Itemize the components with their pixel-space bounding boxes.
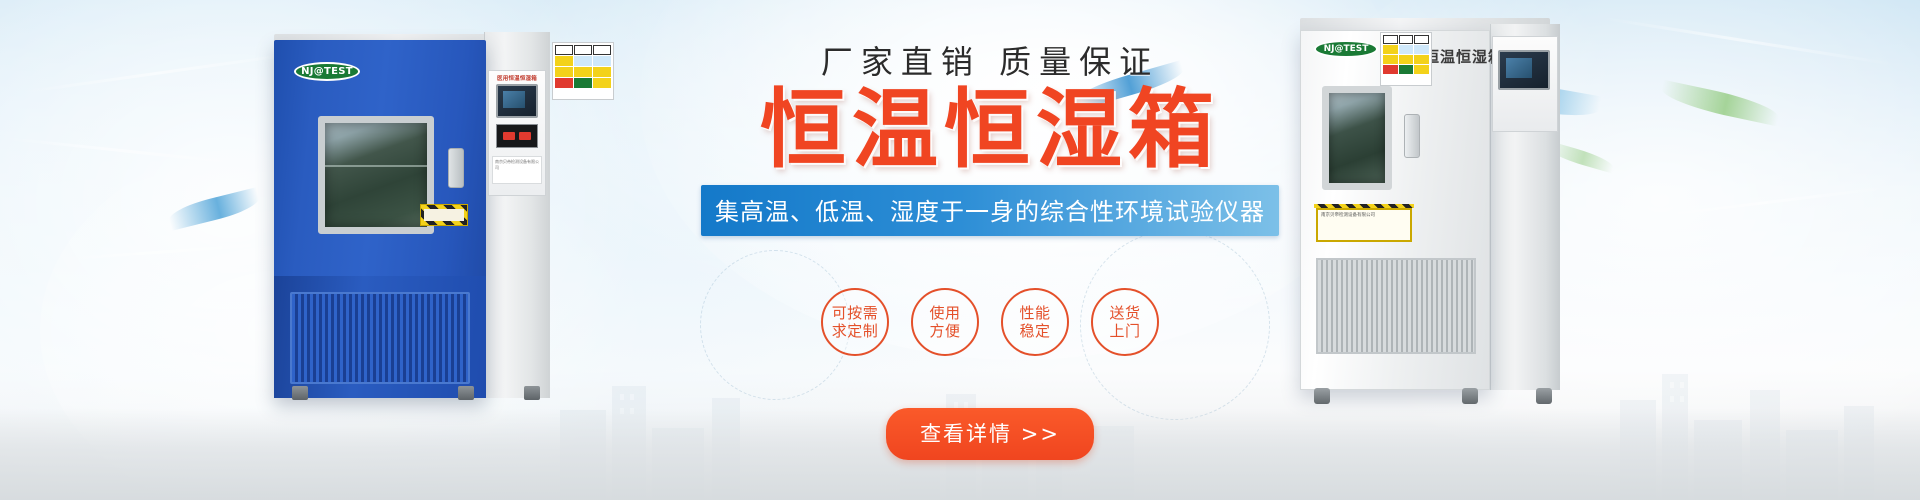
product-image-left-chamber: NJ@TEST 医用恒温恒湿箱 南京贝帝检测设备有限公司 <box>252 28 552 398</box>
caster-wheel <box>1314 388 1330 404</box>
feature-badge-delivery[interactable]: 送货 上门 <box>1091 288 1159 356</box>
chamber-door-handle <box>448 148 464 188</box>
warning-sticker-grid <box>1380 32 1432 86</box>
light-streak-decoration <box>60 242 280 260</box>
hazard-stripe-label <box>420 204 468 226</box>
feature-badge-line1: 使用 <box>929 304 960 322</box>
banner-subtitle: 集高温、低温、湿度于一身的综合性环境试验仪器 <box>701 185 1279 236</box>
control-panel-title: 医用恒温恒湿箱 <box>491 74 543 82</box>
controller-display-screen <box>496 84 538 118</box>
product-image-right-chamber: NJ@TEST 恒温恒湿箱 南京贝帝检测设备有限公司 <box>1270 10 1610 400</box>
manufacturer-label: 南京贝帝检测设备有限公司 <box>1316 208 1412 242</box>
feature-badge-list: 可按需 求定制 使用 方便 性能 稳定 送货 上门 <box>690 288 1290 356</box>
chamber-viewing-window <box>1322 86 1392 190</box>
feature-badge-line1: 性能 <box>1019 304 1050 322</box>
feature-badge-line2: 上门 <box>1109 322 1140 340</box>
caster-wheel <box>292 386 308 400</box>
caster-wheel <box>524 386 540 400</box>
feature-badge-stable[interactable]: 性能 稳定 <box>1001 288 1069 356</box>
light-streak-decoration <box>1 136 260 166</box>
feature-badge-line2: 稳定 <box>1019 322 1050 340</box>
banner-tagline: 厂家直销 质量保证 <box>690 46 1290 78</box>
banner-headline: 恒温恒湿箱 <box>690 86 1290 175</box>
feature-badge-easy-use[interactable]: 使用 方便 <box>911 288 979 356</box>
manufacturer-label: 南京贝帝检测设备有限公司 <box>492 156 542 184</box>
caster-wheel <box>1462 388 1478 404</box>
caster-wheel <box>1536 388 1552 404</box>
feature-badge-custom[interactable]: 可按需 求定制 <box>821 288 889 356</box>
warning-sticker-grid <box>552 42 614 100</box>
banner-copy-block: 厂家直销 质量保证 恒温恒湿箱 集高温、低温、湿度于一身的综合性环境试验仪器 <box>690 46 1290 236</box>
chamber-vent-grille <box>1316 258 1476 354</box>
chamber-vent-grille <box>290 292 470 384</box>
green-ribbon-decoration <box>1659 80 1781 126</box>
brand-logo-badge: NJ@TEST <box>1314 40 1378 58</box>
cta-area: 查看详情 >> <box>690 408 1290 460</box>
view-details-button[interactable]: 查看详情 >> <box>886 408 1094 460</box>
feature-badge-line1: 送货 <box>1109 304 1140 322</box>
indicator-led-row <box>496 124 538 148</box>
feature-badge-line2: 方便 <box>929 322 960 340</box>
caster-wheel <box>458 386 474 400</box>
feature-badge-line2: 求定制 <box>832 322 879 340</box>
feature-badge-line1: 可按需 <box>832 304 879 322</box>
controller-display-screen <box>1498 50 1550 90</box>
product-banner: NJ@TEST 医用恒温恒湿箱 南京贝帝检测设备有限公司 NJ@TEST 恒温恒… <box>0 0 1920 500</box>
chamber-viewing-window <box>318 116 434 234</box>
blue-ribbon-decoration <box>167 187 262 231</box>
light-streak-decoration <box>1651 185 1900 218</box>
brand-logo-badge: NJ@TEST <box>294 62 360 81</box>
light-streak-decoration <box>1602 17 1899 67</box>
chamber-door-handle <box>1404 114 1420 158</box>
